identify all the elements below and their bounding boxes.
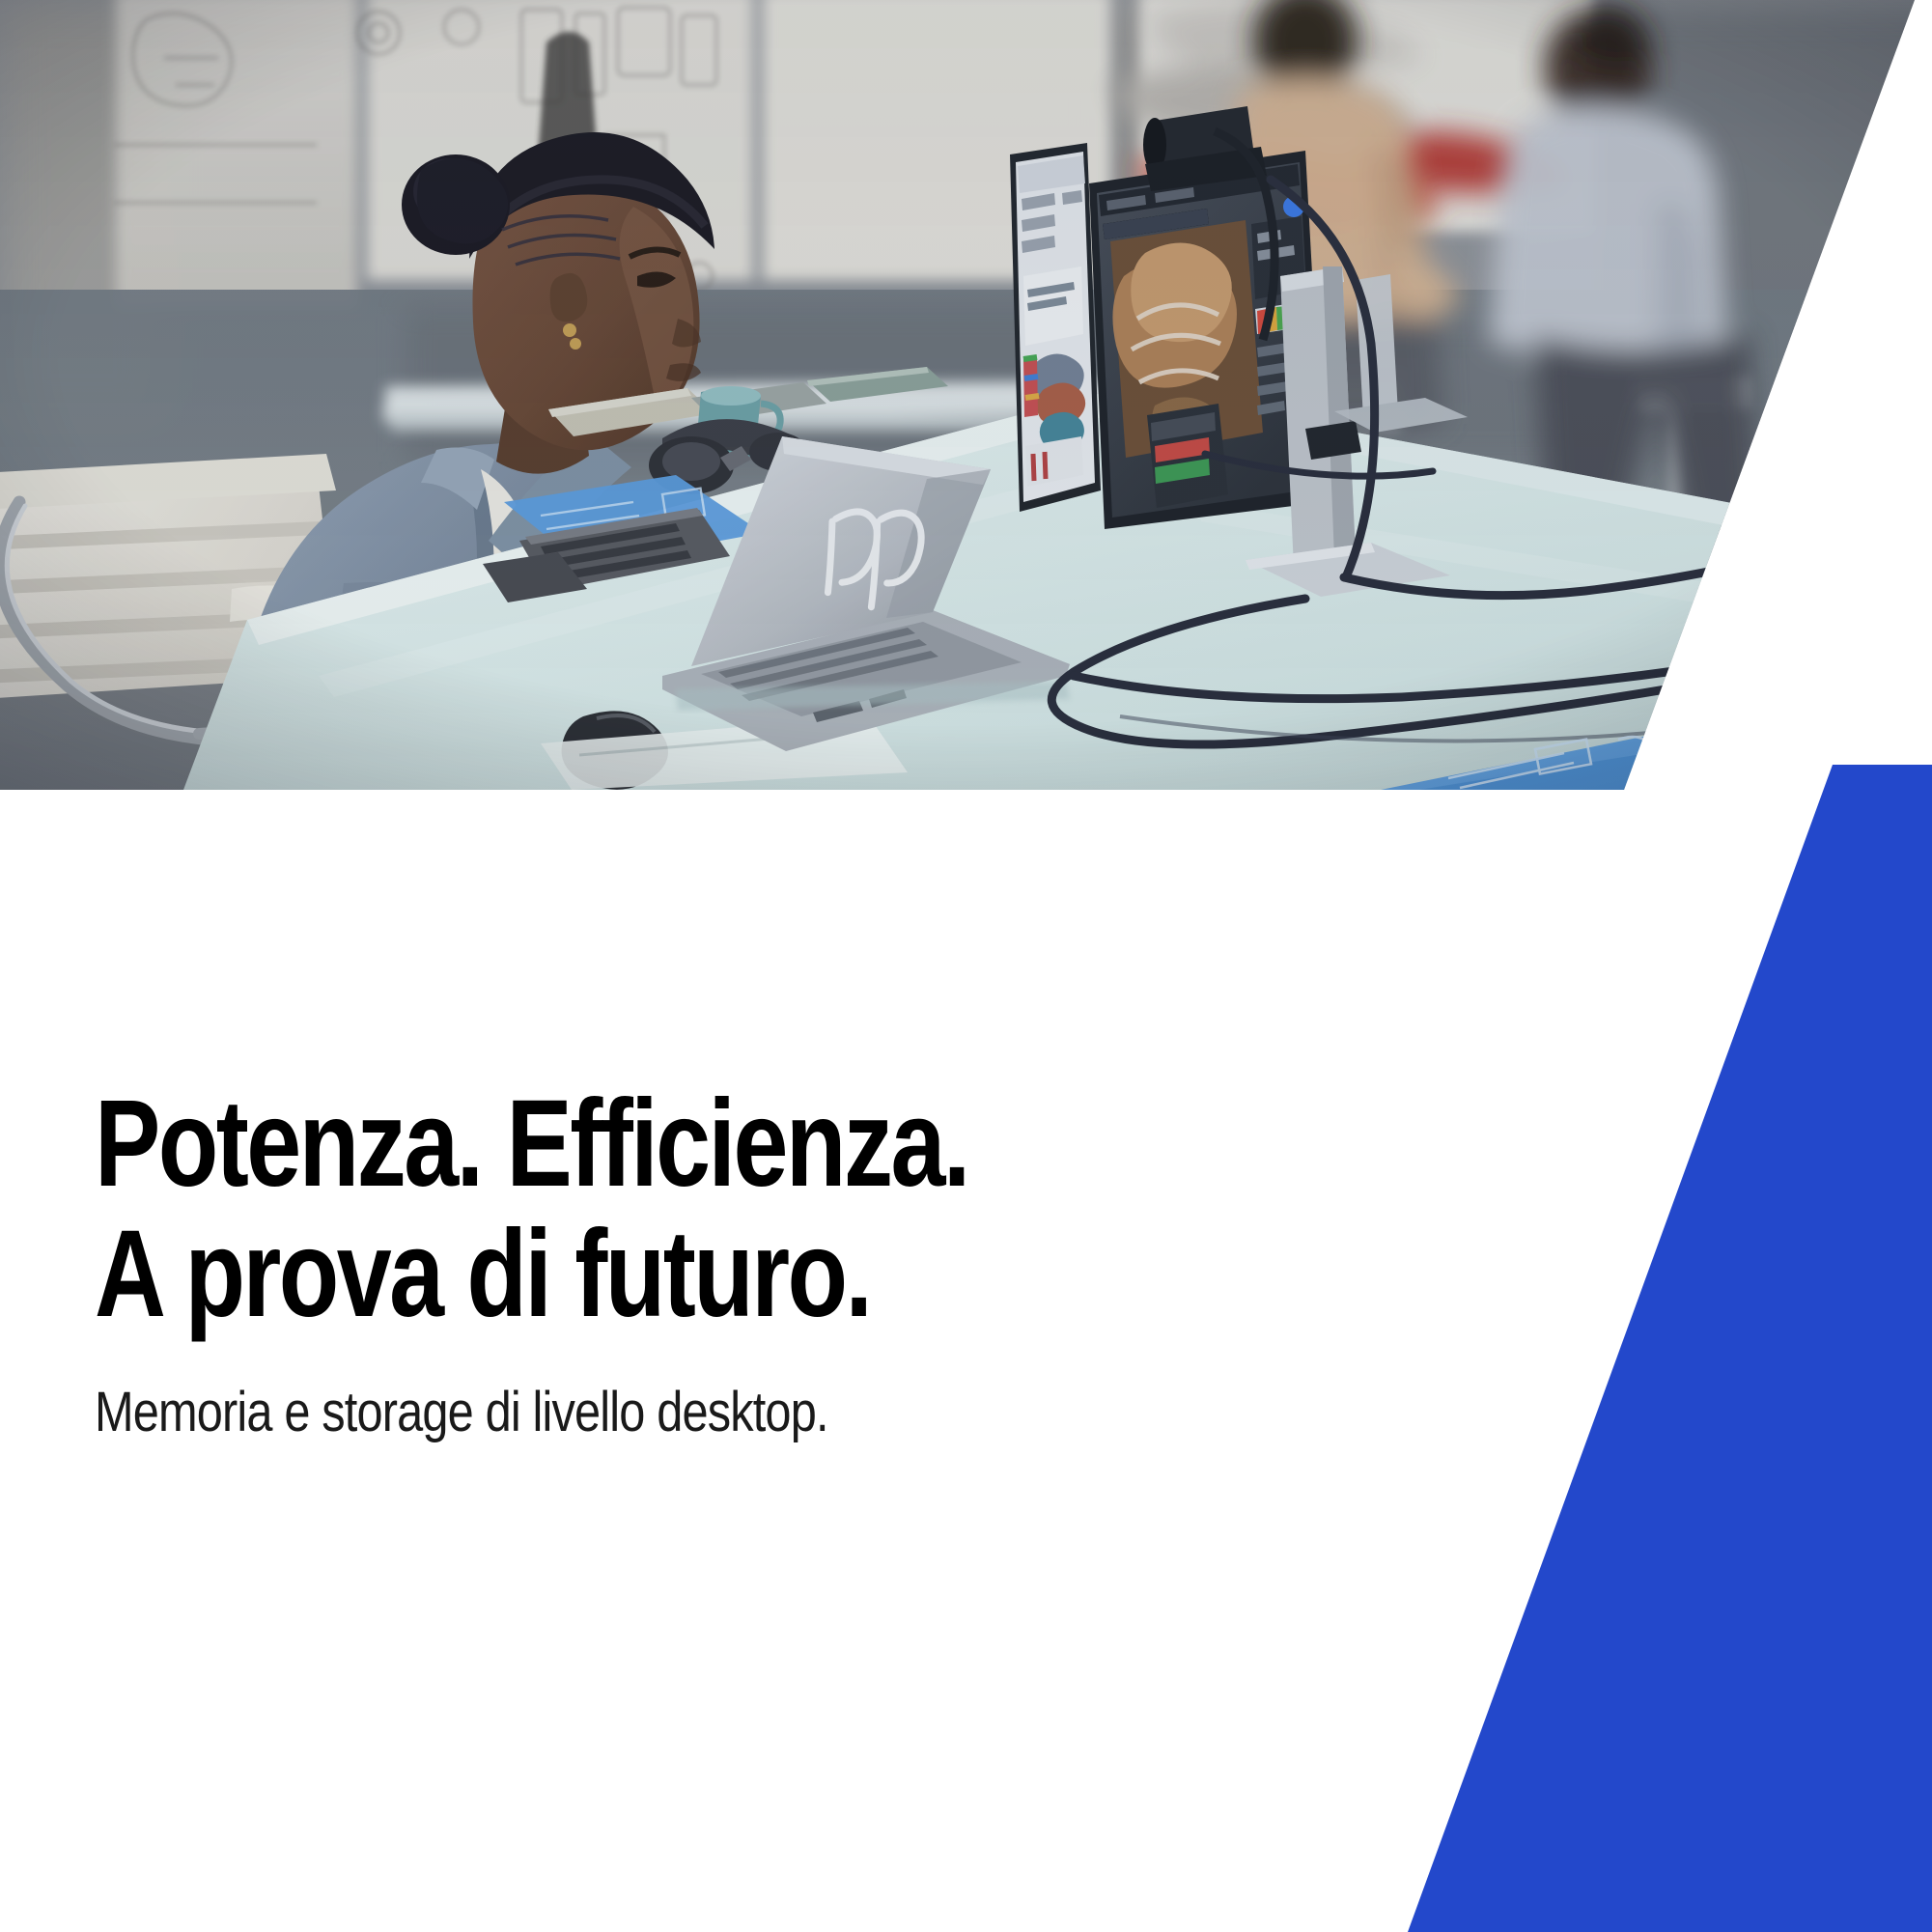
headline-line-2: A prova di futuro.: [95, 1212, 1006, 1338]
copy-block: Potenza. Efficienza. A prova di futuro. …: [95, 1081, 1234, 1443]
hero-scene-illustration: [0, 0, 1932, 790]
marketing-poster: Potenza. Efficienza. A prova di futuro. …: [0, 0, 1932, 1932]
headline-line-1: Potenza. Efficienza.: [95, 1081, 1006, 1208]
hero-image: [0, 0, 1932, 790]
subheadline: Memoria e storage di livello desktop.: [95, 1337, 1051, 1443]
